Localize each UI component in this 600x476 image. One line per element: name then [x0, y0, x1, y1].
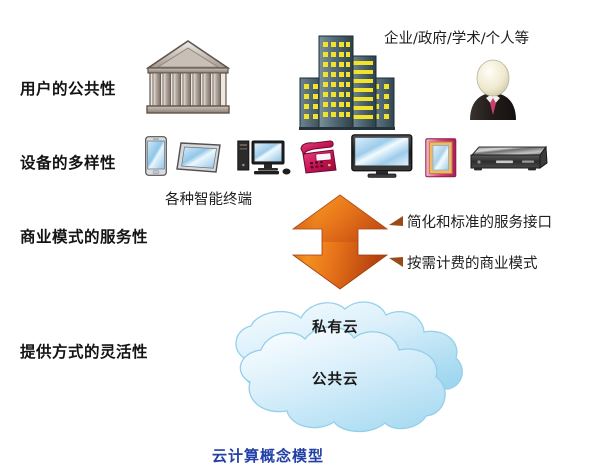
row-label-device-diversity: 设备的多样性 — [20, 151, 116, 173]
caption-users: 企业/政府/学术/个人等 — [384, 27, 529, 48]
row-label-business-service: 商业模式的服务性 — [20, 225, 148, 247]
bidirectional-vertical-arrow-icon — [292, 194, 388, 290]
office-buildings-icon — [299, 30, 395, 130]
photo-frame-icon — [425, 138, 457, 178]
desktop-pc-icon — [237, 138, 293, 176]
pointer-arrow-business-model-icon — [389, 257, 403, 268]
caption-terminals: 各种智能终端 — [165, 188, 252, 209]
cloud-label-private: 私有云 — [312, 316, 359, 337]
tablet-icon — [176, 141, 221, 174]
caption-service-interface: 简化和标准的服务接口 — [407, 211, 552, 232]
cloud-label-public: 公共云 — [312, 368, 359, 389]
businessman-icon — [466, 58, 520, 120]
diagram-title: 云计算概念模型 — [212, 445, 324, 466]
row-label-user-publicity: 用户的公共性 — [20, 77, 116, 99]
row-label-delivery-flexibility: 提供方式的灵活性 — [20, 340, 148, 362]
smartphone-icon — [145, 136, 167, 176]
pointer-arrow-service-interface-icon — [389, 216, 403, 227]
set-top-box-icon — [470, 146, 548, 173]
cloud-computing-concept-diagram: 用户的公共性 设备的多样性 商业模式的服务性 提供方式的灵活性 企业/政府/学术… — [0, 0, 600, 476]
caption-business-model: 按需计费的商业模式 — [407, 252, 538, 273]
telephone-icon — [300, 140, 338, 174]
government-building-icon — [146, 38, 230, 118]
television-icon — [351, 134, 413, 179]
